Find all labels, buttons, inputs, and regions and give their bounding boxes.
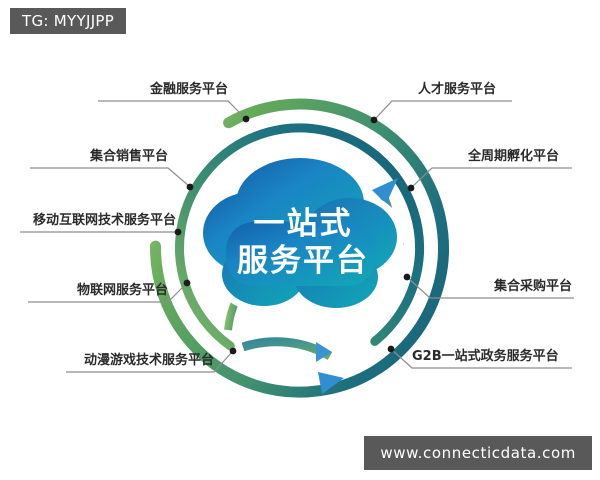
label-aggregated-procurement-platform: 集合采购平台 <box>494 279 600 297</box>
label-iot-service-platform: 物联网服务平台 <box>28 283 168 301</box>
center-title-line2: 服务平台 <box>237 243 369 279</box>
label-talent-service-platform: 人才服务平台 <box>418 82 548 100</box>
site-watermark-badge: www.connecticdata.com <box>364 436 592 470</box>
label-full-cycle-incubation-platform: 全周期孵化平台 <box>468 149 600 167</box>
label-anime-game-tech-service-platform: 动漫游戏技术服务平台 <box>66 353 214 371</box>
label-aggregated-sales-platform: 集合销售平台 <box>30 149 168 167</box>
label-mobile-internet-tech-service-platform: 移动互联网技术服务平台 <box>20 213 176 231</box>
label-g2b-government-service-platform: G2B一站式政务服务平台 <box>412 349 592 367</box>
infographic-canvas: 一站式 服务平台 <box>0 0 600 480</box>
one-stop-service-platform-graphic: 一站式 服务平台 <box>0 0 600 480</box>
label-financial-service-platform: 金融服务平台 <box>98 82 228 100</box>
center-title-line1: 一站式 <box>254 206 353 242</box>
arrow-lower-icon <box>316 342 332 362</box>
tg-watermark-badge: TG: MYYJJPP <box>10 8 126 34</box>
